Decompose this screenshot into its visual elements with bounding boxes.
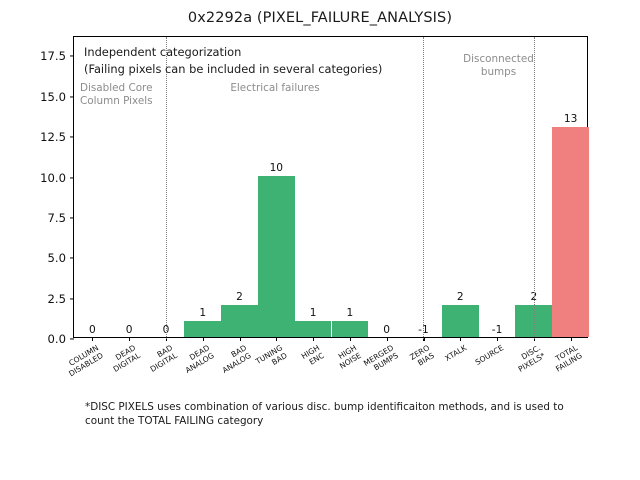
y-tick-label: 5.0 (48, 251, 74, 265)
annotation-multiple-categories: (Failing pixels can be included in sever… (84, 62, 382, 77)
annotation-disabled-core-column-pixels: Disabled Core Column Pixels (80, 82, 176, 107)
y-tick-label: 12.5 (40, 130, 74, 144)
y-tick-label: 10.0 (40, 171, 74, 185)
bar-value-label: 0 (89, 324, 96, 336)
bar-value-label: 1 (310, 307, 317, 319)
x-tick-mark (387, 337, 388, 341)
x-tick-mark (571, 337, 572, 341)
bar-value-label: 1 (199, 307, 206, 319)
y-tick-label: 17.5 (40, 49, 74, 63)
plot-area: Number of pixels 0.02.55.07.510.012.515.… (73, 36, 588, 338)
bar: 2 (442, 305, 479, 337)
bar: 2 (221, 305, 258, 337)
group-divider (423, 37, 424, 339)
footnote-disc-pixels: *DISC PIXELS uses combination of various… (85, 400, 585, 429)
bar-value-label: 2 (236, 291, 243, 303)
y-tick-label: 2.5 (48, 292, 74, 306)
x-tick-mark (129, 337, 130, 341)
bar: 10 (258, 176, 295, 337)
bar: 1 (295, 321, 332, 337)
x-tick-mark (313, 337, 314, 341)
x-tick-mark (92, 337, 93, 341)
annotation-disconnected-bumps: Disconnected bumps (436, 53, 561, 78)
y-tick-label: 15.0 (40, 90, 74, 104)
bar-value-label: 13 (564, 113, 577, 125)
bar-value-label: 0 (383, 324, 390, 336)
bar-value-label: 0 (126, 324, 133, 336)
bar: 13 (552, 127, 589, 337)
bar-value-label: 10 (270, 162, 283, 174)
bar-value-label: 1 (347, 307, 354, 319)
x-tick-mark (350, 337, 351, 341)
x-tick-mark (240, 337, 241, 341)
bar-value-label: 2 (457, 291, 464, 303)
group-divider (534, 37, 535, 339)
bar-value-label: -1 (492, 324, 503, 336)
x-tick-mark (203, 337, 204, 341)
x-tick-mark (460, 337, 461, 341)
annotation-independent-categorization: Independent categorization (84, 45, 241, 60)
y-tick-label: 0.0 (48, 332, 74, 346)
bar: 1 (184, 321, 221, 337)
x-tick-mark (276, 337, 277, 341)
bar: 1 (332, 321, 369, 337)
y-tick-label: 7.5 (48, 211, 74, 225)
chart-title: 0x2292a (PIXEL_FAILURE_ANALYSIS) (0, 10, 640, 26)
annotation-electrical-failures: Electrical failures (180, 82, 370, 95)
x-tick-mark (497, 337, 498, 341)
